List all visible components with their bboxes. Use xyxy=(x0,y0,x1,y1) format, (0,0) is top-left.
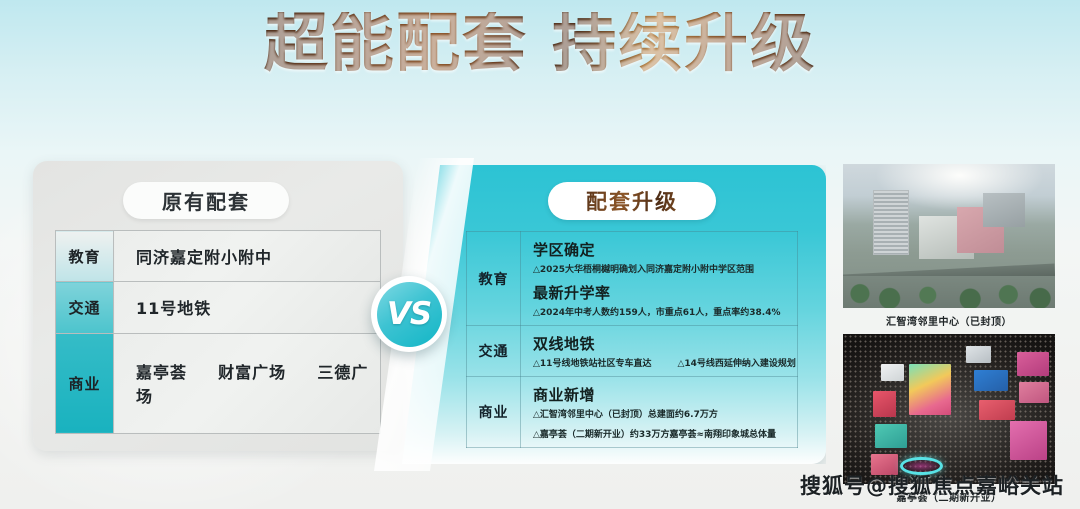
row-label-commerce: 商业 xyxy=(467,377,521,448)
led-screen xyxy=(974,370,1008,391)
watermark: 搜狐号@搜狐焦点嘉峪关站 xyxy=(800,470,1064,500)
building-shape xyxy=(873,190,909,255)
led-screen xyxy=(1010,421,1046,460)
row-content-education: 学区确定 △2025大华梧桐樾明确划入同济嘉定附小附中学区范围 最新升学率 △2… xyxy=(521,232,798,326)
building-shape xyxy=(983,193,1025,228)
led-screen xyxy=(875,424,907,448)
photo-column: 汇智湾邻里中心（已封顶） 嘉亭荟（二期新开业） xyxy=(843,164,1055,509)
led-screen xyxy=(1017,352,1049,376)
led-screen xyxy=(881,364,904,381)
block-heading: 最新升学率 xyxy=(533,282,797,303)
block-heading: 商业新增 xyxy=(533,384,797,405)
led-screen xyxy=(909,364,951,415)
row-label-education: 教育 xyxy=(467,232,521,326)
block-heading: 学区确定 xyxy=(533,239,797,260)
slide-root: 超能配套 持续升级 原有配套 教育 同济嘉定附小附中 交通 11号地铁 商业 嘉… xyxy=(0,0,1080,509)
upgraded-facilities-table: 教育 学区确定 △2025大华梧桐樾明确划入同济嘉定附小附中学区范围 最新升学率… xyxy=(466,231,798,448)
block-detail: △14号线西延伸纳入建设规划 xyxy=(677,356,795,369)
row-value-commerce: 嘉亭荟 财富广场 三德广场 xyxy=(114,333,381,434)
table-row: 交通 11号地铁 xyxy=(56,282,381,333)
original-facilities-pill: 原有配套 xyxy=(123,182,289,219)
original-facilities-table: 教育 同济嘉定附小附中 交通 11号地铁 商业 嘉亭荟 财富广场 三德广场 xyxy=(55,230,381,434)
photo-huizhiwan-neighborhood-center xyxy=(843,164,1055,308)
row-label-education: 教育 xyxy=(56,231,114,282)
trees-shape xyxy=(843,276,1055,308)
led-screen xyxy=(966,346,991,363)
vs-badge-inner: VS xyxy=(377,282,442,347)
block-detail: △2025大华梧桐樾明确划入同济嘉定附小附中学区范围 xyxy=(533,262,797,275)
photo-jiatinghui-led-facade xyxy=(843,334,1055,484)
upgraded-facilities-pill: 配套升级 xyxy=(548,182,716,220)
vs-badge: VS xyxy=(371,276,447,352)
original-facilities-card: 原有配套 教育 同济嘉定附小附中 交通 11号地铁 商业 嘉亭荟 财富广场 三德… xyxy=(33,161,403,451)
upgraded-facilities-card: 配套升级 教育 学区确定 △2025大华梧桐樾明确划入同济嘉定附小附中学区范围 … xyxy=(402,165,826,464)
table-row: 交通 双线地铁 △11号线地铁站社区专车直达 △14号线西延伸纳入建设规划 xyxy=(467,326,798,377)
table-row: 商业 商业新增 △汇智湾邻里中心（已封顶）总建面约6.7万方 △嘉亭荟（二期新开… xyxy=(467,377,798,448)
detail-pair: △11号线地铁站社区专车直达 △14号线西延伸纳入建设规划 xyxy=(533,356,797,369)
table-row: 商业 嘉亭荟 财富广场 三德广场 xyxy=(56,333,381,434)
row-label-transport: 交通 xyxy=(56,282,114,333)
row-value-transport: 11号地铁 xyxy=(114,282,381,333)
led-screen xyxy=(873,391,896,417)
block-detail: △11号线地铁站社区专车直达 xyxy=(533,356,651,369)
commerce-item-1: 嘉亭荟 xyxy=(136,363,187,382)
page-title-text: 超能配套 持续升级 xyxy=(264,12,816,76)
row-label-transport: 交通 xyxy=(467,326,521,377)
commerce-item-2: 财富广场 xyxy=(218,363,286,382)
photo-caption-1: 汇智湾邻里中心（已封顶） xyxy=(843,308,1055,334)
vs-badge-label: VS xyxy=(387,296,431,332)
row-content-transport: 双线地铁 △11号线地铁站社区专车直达 △14号线西延伸纳入建设规划 xyxy=(521,326,798,377)
row-content-commerce: 商业新增 △汇智湾邻里中心（已封顶）总建面约6.7万方 △嘉亭荟（二期新开业）约… xyxy=(521,377,798,448)
row-label-commerce: 商业 xyxy=(56,333,114,434)
block-heading: 双线地铁 xyxy=(533,333,797,354)
table-row: 教育 学区确定 △2025大华梧桐樾明确划入同济嘉定附小附中学区范围 最新升学率… xyxy=(467,232,798,326)
page-title: 超能配套 持续升级 xyxy=(0,12,1080,76)
block-detail: △嘉亭荟（二期新开业）约33万方嘉亭荟≈南翔印象城总体量 xyxy=(533,427,797,440)
original-facilities-pill-label: 原有配套 xyxy=(162,186,250,215)
block-detail: △2024年中考人数约159人，市重点61人，重点率约38.4% xyxy=(533,305,797,318)
upgraded-facilities-pill-label: 配套升级 xyxy=(586,186,678,216)
row-value-education: 同济嘉定附小附中 xyxy=(114,231,381,282)
block-detail: △汇智湾邻里中心（已封顶）总建面约6.7万方 xyxy=(533,407,797,420)
led-screen xyxy=(979,400,1015,420)
table-row: 教育 同济嘉定附小附中 xyxy=(56,231,381,282)
led-screen xyxy=(1019,382,1049,403)
